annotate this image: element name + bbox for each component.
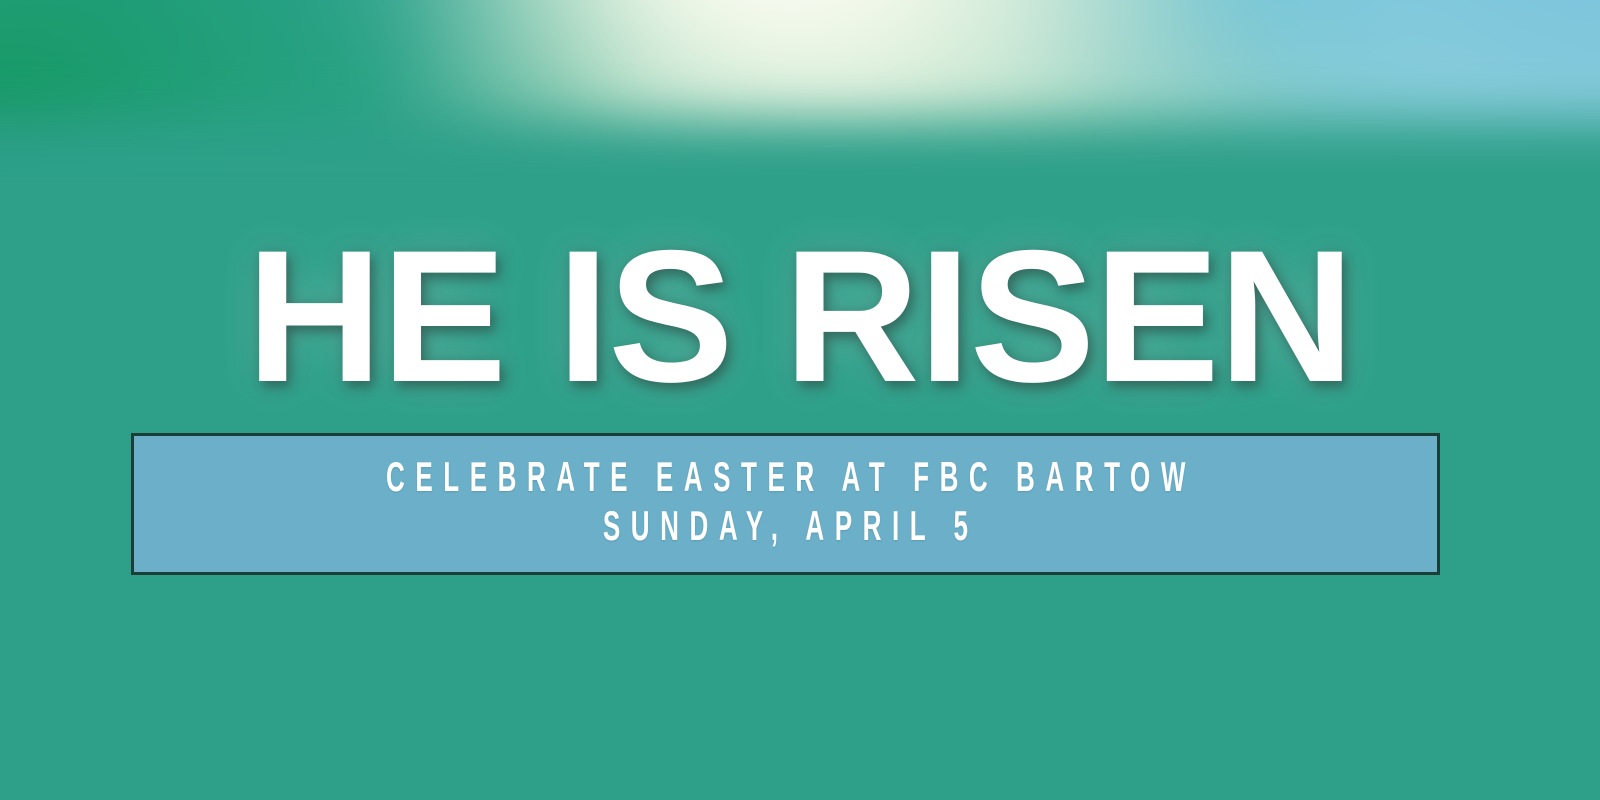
easter-banner: HE IS RISEN CELEBRATE EASTER AT FBC BART… bbox=[0, 0, 1600, 800]
event-details-box: CELEBRATE EASTER AT FBC BARTOW SUNDAY, A… bbox=[131, 433, 1440, 575]
headline-he-is-risen: HE IS RISEN bbox=[0, 222, 1600, 410]
banner-content: HE IS RISEN CELEBRATE EASTER AT FBC BART… bbox=[0, 0, 1600, 800]
event-line-celebrate-easter: CELEBRATE EASTER AT FBC BARTOW bbox=[375, 456, 1196, 499]
event-line-date: SUNDAY, APRIL 5 bbox=[592, 505, 978, 548]
